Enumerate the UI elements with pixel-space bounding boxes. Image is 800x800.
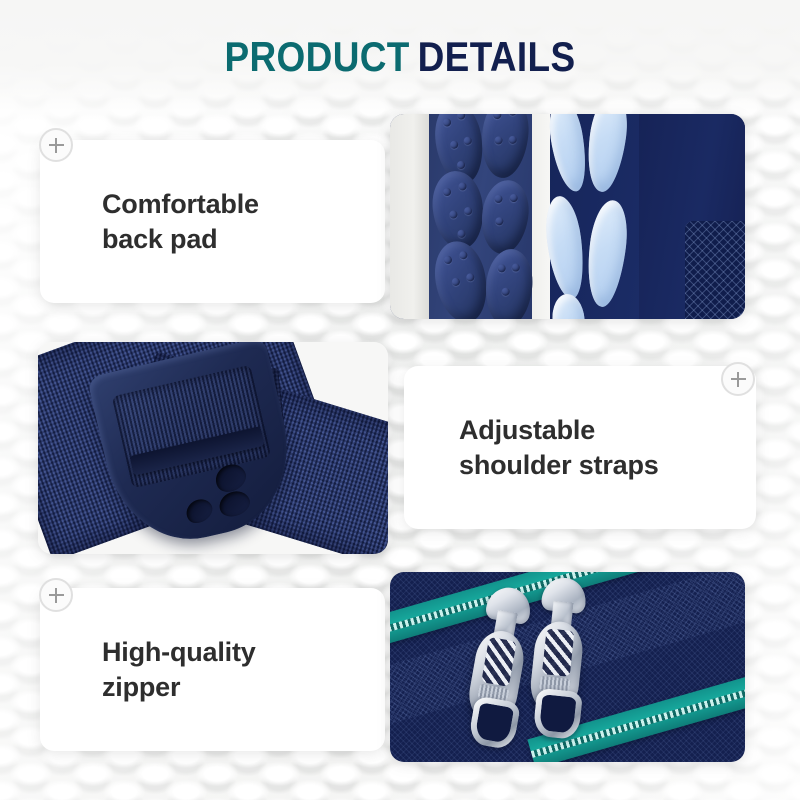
page-title-word-details: DETAILS [418, 33, 576, 80]
page-title: PRODUCTDETAILS [48, 36, 752, 78]
page-title-word-product: PRODUCT [225, 33, 410, 80]
feature-label-back-pad: Comfortable back pad [102, 187, 259, 255]
plus-icon-shoulder-straps[interactable] [721, 362, 755, 396]
shoulder-strap-photo [38, 342, 388, 554]
feature-label-zipper: High-quality zipper [102, 635, 256, 703]
feature-label-shoulder-straps: Adjustable shoulder straps [459, 413, 659, 481]
back-pad-photo [390, 114, 745, 319]
zipper-photo [390, 572, 745, 762]
feature-card-zipper[interactable]: High-quality zipper [40, 588, 385, 751]
plus-icon-zipper[interactable] [39, 578, 73, 612]
feature-card-shoulder-straps[interactable]: Adjustable shoulder straps [404, 366, 756, 529]
feature-card-back-pad[interactable]: Comfortable back pad [40, 140, 385, 303]
product-details-poster: PRODUCTDETAILS Comfortable back pad [0, 0, 800, 800]
plus-icon-back-pad[interactable] [39, 128, 73, 162]
